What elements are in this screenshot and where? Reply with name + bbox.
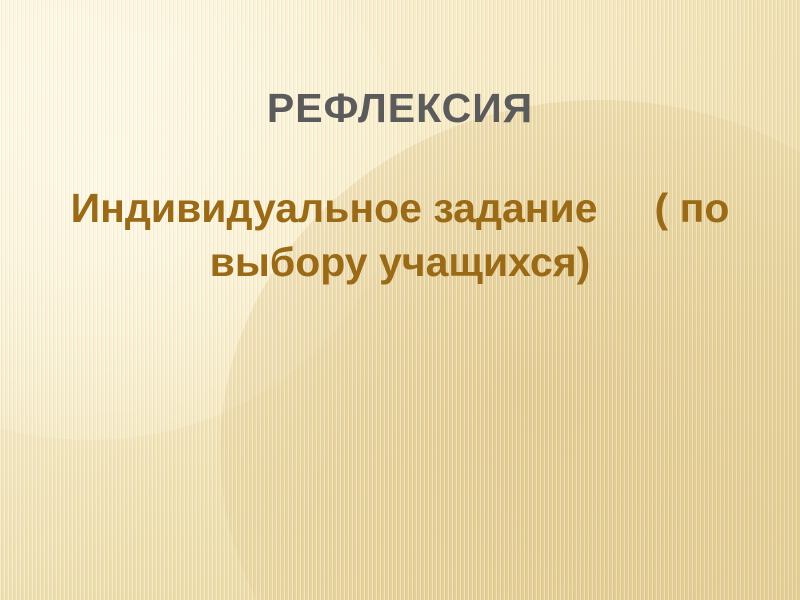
presentation-slide: РЕФЛЕКСИЯ Индивидуальное задание ( по вы…: [0, 0, 800, 600]
slide-body-text: Индивидуальное задание ( по выбору учащи…: [50, 181, 750, 289]
slide-title: РЕФЛЕКСИЯ: [50, 86, 750, 131]
slide-content: РЕФЛЕКСИЯ Индивидуальное задание ( по вы…: [0, 0, 800, 600]
